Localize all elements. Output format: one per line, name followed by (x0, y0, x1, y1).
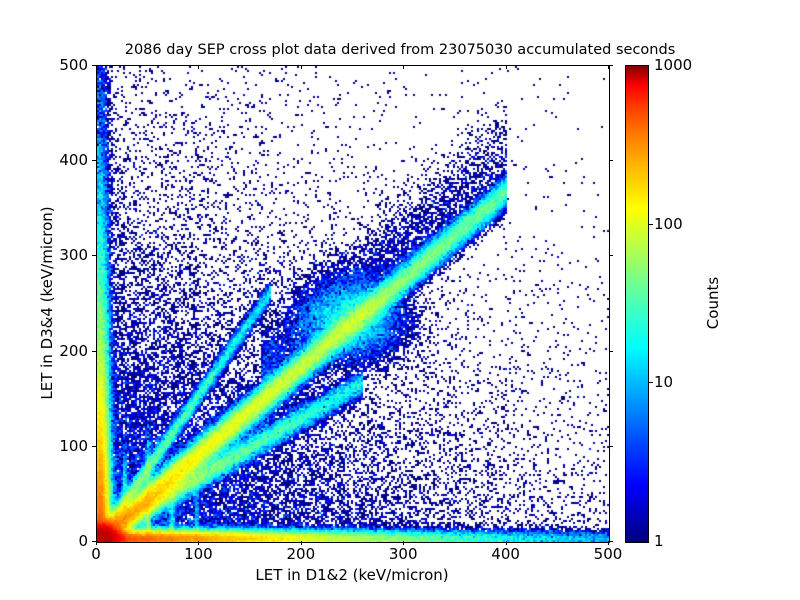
y-tick-mark (92, 446, 96, 447)
figure-canvas: 2086 day SEP cross plot data derived fro… (0, 0, 800, 600)
y-tick-mark-right (609, 446, 613, 447)
y-axis-label: LET in D3&4 (keV/micron) (38, 65, 56, 541)
y-tick-mark-right (609, 255, 613, 256)
x-tick-label: 100 (184, 545, 213, 563)
colorbar-label: Counts (704, 65, 722, 541)
colorbar-tick-mark (648, 224, 653, 225)
plot-area (96, 65, 610, 543)
x-tick-mark-top (403, 65, 404, 69)
y-tick-mark (92, 160, 96, 161)
y-tick-mark (92, 541, 96, 542)
y-tick-mark (92, 65, 96, 66)
density-scatter-plot (97, 66, 609, 542)
colorbar-tick-mark (648, 382, 653, 383)
y-tick-mark (92, 351, 96, 352)
x-tick-mark-top (506, 65, 507, 69)
x-tick-label: 400 (491, 545, 520, 563)
y-tick-mark-right (609, 65, 613, 66)
y-tick-mark-right (609, 160, 613, 161)
y-tick-mark-right (609, 351, 613, 352)
x-tick-mark-top (96, 65, 97, 69)
y-tick-mark (92, 255, 96, 256)
colorbar-tick-label: 100 (654, 215, 683, 233)
x-tick-label: 0 (91, 545, 101, 563)
colorbar-tick-label: 10 (654, 373, 673, 391)
y-tick-mark-right (609, 541, 613, 542)
x-tick-mark-top (301, 65, 302, 69)
x-tick-label: 200 (286, 545, 315, 563)
x-axis-label: LET in D1&2 (keV/micron) (96, 566, 608, 584)
x-tick-label: 500 (594, 545, 623, 563)
x-tick-label: 300 (389, 545, 418, 563)
colorbar-gradient (626, 66, 648, 542)
colorbar-tick-label: 1000 (654, 56, 692, 74)
colorbar-tick-label: 1 (654, 532, 664, 550)
x-tick-mark-top (198, 65, 199, 69)
colorbar (625, 65, 649, 543)
